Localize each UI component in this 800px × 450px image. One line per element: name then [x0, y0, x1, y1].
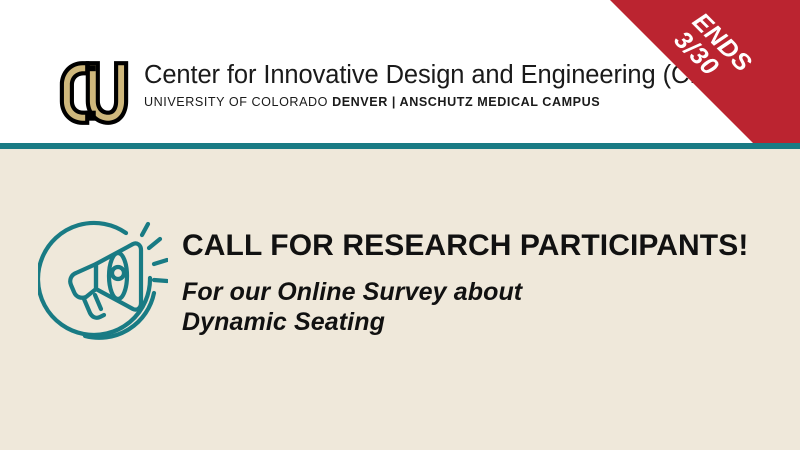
poster-headline: CALL FOR RESEARCH PARTICIPANTS!: [182, 229, 782, 263]
poster-subhead-line-2: Dynamic Seating: [182, 307, 782, 337]
organization-subtitle-university: UNIVERSITY OF COLORADO: [144, 95, 332, 109]
poster-body: CALL FOR RESEARCH PARTICIPANTS! For our …: [0, 149, 800, 450]
poster-subhead-line-1: For our Online Survey about: [182, 277, 782, 307]
megaphone-icon: [38, 217, 168, 347]
poster-subhead: For our Online Survey about Dynamic Seat…: [182, 277, 782, 337]
poster-copy: CALL FOR RESEARCH PARTICIPANTS! For our …: [182, 229, 782, 337]
poster-canvas: Center for Innovative Design and Enginee…: [0, 0, 800, 450]
cu-interlocking-logo: [58, 60, 130, 126]
poster-header: Center for Innovative Design and Enginee…: [0, 0, 800, 143]
ends-ribbon: ENDS 3/30: [610, 0, 800, 143]
organization-subtitle-campus: DENVER | ANSCHUTZ MEDICAL CAMPUS: [332, 95, 600, 109]
